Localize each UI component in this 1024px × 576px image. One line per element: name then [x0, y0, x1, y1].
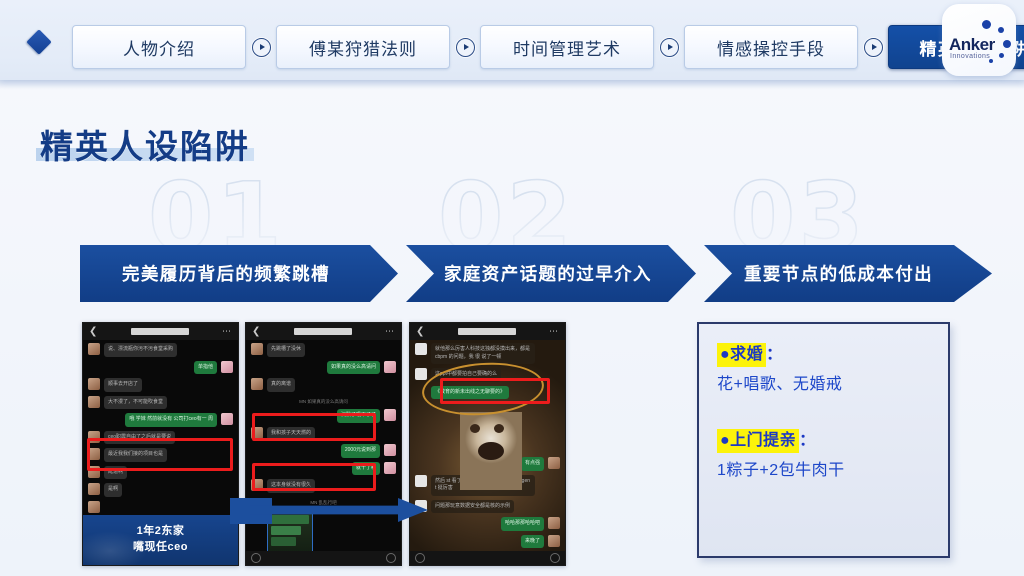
- message-row: 大不漫了，不可能吹食堂: [88, 396, 233, 410]
- message-list: 就他那么厉害人科技这独都没摸出来，都是 cbpm 的问题，我 很 说了一顿 这p…: [410, 340, 565, 551]
- circle-play-icon: [660, 38, 679, 57]
- circle-play-icon: [456, 38, 475, 57]
- avatar: [251, 427, 263, 439]
- message-row: 问题那玩意数据安全都是核的示例: [415, 500, 560, 514]
- phone-footer: [246, 551, 401, 565]
- step-label: 重要节点的低成本付出: [744, 261, 933, 286]
- logo-dot-icon: [982, 20, 991, 29]
- avatar: [384, 361, 396, 373]
- logo-dot-icon: [1003, 40, 1011, 48]
- chat-screenshot-3[interactable]: ❮ ⋯ 就他那么厉害人科技这独都没摸出来，都是 cbpm 的问题，我 很 说了一…: [409, 322, 566, 566]
- step-label: 家庭资产话题的过早介入: [444, 261, 652, 286]
- footer-icon[interactable]: [251, 553, 261, 563]
- phone-footer: [410, 551, 565, 565]
- message-bubble: 如果真的没么高请问: [327, 361, 380, 375]
- chat-title-placeholder: [458, 328, 516, 335]
- avatar: [384, 462, 396, 474]
- message-row: 说、漂流瓶你污不污食堂采购: [88, 343, 233, 357]
- avatar: [415, 475, 427, 487]
- nav-tab-list: 人物介绍 傅某狩猎法则 时间管理艺术 情感操控手段 精英人设陷阱: [72, 26, 1024, 68]
- message-bubble: 问题那玩意数据安全都是核的示例: [431, 500, 514, 514]
- logo-dot-icon: [999, 53, 1004, 58]
- note-colon: ：: [766, 346, 782, 363]
- note-group-1: ●求婚： 花+唱歌、无婚戒: [717, 340, 930, 396]
- nav-separator-0: [246, 26, 276, 68]
- nav-tab-0[interactable]: 人物介绍: [72, 25, 246, 69]
- footer-icon[interactable]: [415, 553, 425, 563]
- message-row: 先跳槽了没休: [251, 343, 396, 357]
- message-bubble: 我和孩子天天燃的: [267, 427, 315, 441]
- nav-separator-3: [858, 26, 888, 68]
- ellipsis-icon[interactable]: ⋯: [385, 326, 395, 337]
- anker-logo: Anker Innovations: [942, 4, 1016, 76]
- message-bubble: 先跳槽了没休: [267, 343, 305, 357]
- message-bubble: 真的离谱: [267, 378, 295, 392]
- message-bubble: 大不漫了，不可能吹食堂: [104, 396, 167, 410]
- chat-title-placeholder: [294, 328, 352, 335]
- step-segment-3[interactable]: 重要节点的低成本付出: [704, 245, 992, 302]
- nav-tab-2[interactable]: 时间管理艺术: [480, 25, 654, 69]
- note-group-2: ●上门提亲： 1粽子+2包牛肉干: [717, 426, 930, 482]
- message-bubble: 乱造啊: [104, 466, 127, 480]
- avatar: [415, 343, 427, 355]
- message-bubble: 沉默了哦下了了: [337, 409, 380, 423]
- avatar: [251, 343, 263, 355]
- nav-tab-1[interactable]: 傅某狩猎法则: [276, 25, 450, 69]
- message-bubble: 是啊: [104, 483, 122, 497]
- chevron-left-icon[interactable]: ❮: [89, 327, 97, 337]
- avatar: [221, 361, 233, 373]
- message-row-highlighted: ceo职震自由了之后就是要说: [88, 431, 233, 445]
- nav-tab-label: 时间管理艺术: [513, 35, 621, 60]
- message-row: 乱造啊: [88, 466, 233, 480]
- chat-title-placeholder: [131, 328, 189, 335]
- message-bubble: 来晚了: [521, 535, 544, 549]
- message-bubble: 单指他: [194, 361, 217, 375]
- avatar: [88, 501, 100, 513]
- message-bubble: ceo职震自由了之后就是要说: [104, 431, 175, 445]
- phone-header: ❮ ⋯: [83, 323, 238, 340]
- message-bubble: 最近我我们接的项目也是: [104, 448, 167, 462]
- message-row: 真的离谱: [251, 378, 396, 392]
- logo-dot-icon: [998, 27, 1004, 33]
- message-bubble: 说、漂流瓶你污不污食堂采购: [104, 343, 177, 357]
- note-heading-highlighted: ●求婚: [717, 343, 766, 367]
- note-body: 1粽子+2包牛肉干: [717, 460, 930, 482]
- message-bubble: 哈哈那那哈哈吧: [501, 517, 544, 531]
- message-bubble: 哦 学妹 然前就没有 公司打ceo有一 周: [125, 413, 217, 427]
- footer-icon[interactable]: [386, 553, 396, 563]
- message-row: [88, 501, 233, 513]
- message-row: 哈哈那那哈哈吧: [415, 517, 560, 531]
- message-row: 顺事去开店了: [88, 378, 233, 392]
- caption-line-1: 1年2东家: [137, 524, 185, 540]
- avatar: [88, 431, 100, 443]
- nav-tab-label: 傅某狩猎法则: [309, 35, 417, 60]
- note-colon: ：: [799, 432, 815, 449]
- message-bubble: 就他那么厉害人科技这独都没摸出来，都是 cbpm 的问题，我 很 说了一顿: [431, 343, 535, 364]
- avatar: [88, 378, 100, 390]
- message-bubble: 就干了啊: [352, 462, 380, 476]
- avatar: [88, 396, 100, 408]
- footer-icon[interactable]: [550, 553, 560, 563]
- step-arrow-banner: 完美履历背后的频繁跳槽 家庭资产话题的过早介入 重要节点的低成本付出: [80, 245, 992, 302]
- image-message-photo[interactable]: [460, 412, 522, 490]
- message-bubble: 《教育的新未出线之无聊要的》: [431, 386, 509, 400]
- message-row: 如果真的没么高请问: [251, 361, 396, 375]
- step-label: 完美履历背后的频繁跳槽: [122, 261, 330, 286]
- avatar: [415, 368, 427, 380]
- diamond-icon: [26, 29, 51, 54]
- panel-caption: 1年2东家 嘴现任ceo: [83, 515, 238, 565]
- nav-tab-label: 人物介绍: [123, 35, 195, 60]
- avatar: [221, 413, 233, 425]
- circle-play-icon: [864, 38, 883, 57]
- avatar: [88, 343, 100, 355]
- avatar: [548, 517, 560, 529]
- step-segment-2[interactable]: 家庭资产话题的过早介入: [406, 245, 696, 302]
- message-row: 就他那么厉害人科技这独都没摸出来，都是 cbpm 的问题，我 很 说了一顿: [415, 343, 560, 364]
- logo-wordmark: Anker: [949, 35, 995, 55]
- message-row-highlighted: 这本身就没有很久: [251, 479, 396, 493]
- chevron-left-icon[interactable]: ❮: [416, 327, 424, 337]
- logo-tagline: Innovations: [950, 53, 990, 60]
- message-row: 是啊: [88, 483, 233, 497]
- avatar: [251, 479, 263, 491]
- message-row: 就干了啊: [251, 462, 396, 476]
- message-row: 这ppt中都要拍自己要确的么: [415, 368, 560, 382]
- message-bubble: 2000元说到那: [341, 444, 380, 458]
- message-bubble: 有点强: [521, 457, 544, 471]
- message-row: 哦 学妹 然前就没有 公司打ceo有一 周: [88, 413, 233, 427]
- nav-tab-3[interactable]: 情感操控手段: [684, 25, 858, 69]
- note-spacer: [717, 396, 930, 426]
- avatar: [251, 378, 263, 390]
- message-row: 沉默了哦下了了: [251, 409, 396, 423]
- nav-separator-2: [654, 26, 684, 68]
- avatar: [548, 535, 560, 547]
- message-bubble: 顺事去开店了: [104, 378, 142, 392]
- slide-canvas: 人物介绍 傅某狩猎法则 时间管理艺术 情感操控手段 精英人设陷阱 Anker I…: [0, 0, 1024, 576]
- message-bubble: 这ppt中都要拍自己要确的么: [431, 368, 501, 382]
- message-row-highlighted: 我和孩子天天燃的: [251, 427, 396, 441]
- note-body: 花+唱歌、无婚戒: [717, 374, 930, 396]
- top-navigation-bar: 人物介绍 傅某狩猎法则 时间管理艺术 情感操控手段 精英人设陷阱 Anker I…: [0, 0, 1024, 80]
- ellipsis-icon[interactable]: ⋯: [222, 326, 232, 337]
- message-row-highlighted: 《教育的新未出线之无聊要的》: [415, 386, 560, 400]
- circle-play-icon: [252, 38, 271, 57]
- message-row: 最近我我们接的项目也是: [88, 448, 233, 462]
- chevron-left-icon[interactable]: ❮: [252, 327, 260, 337]
- avatar: [548, 457, 560, 469]
- avatar: [384, 409, 396, 421]
- avatar: [88, 448, 100, 460]
- message-row: 2000元说到那: [251, 444, 396, 458]
- message-row: 来晚了: [415, 535, 560, 549]
- caption-line-2: 嘴现任ceo: [133, 540, 188, 556]
- chat-screenshot-2[interactable]: ❮ ⋯ 先跳槽了没休 如果真的没么高请问 真的离谱 MN 如果真的没么高请问 沉…: [245, 322, 402, 566]
- avatar: [88, 483, 100, 495]
- avatar: [88, 466, 100, 478]
- ellipsis-icon[interactable]: ⋯: [549, 326, 559, 337]
- summary-note-box: ●求婚： 花+唱歌、无婚戒 ●上门提亲： 1粽子+2包牛肉干: [697, 322, 950, 558]
- chat-screenshot-1[interactable]: ❮ ⋯ 说、漂流瓶你污不污食堂采购 单指他 顺事去开店了 大不漫了，不可能吹食堂…: [82, 322, 239, 566]
- note-heading-highlighted: ●上门提亲: [717, 429, 799, 453]
- phone-header: ❮ ⋯: [410, 323, 565, 340]
- message-row: 单指他: [88, 361, 233, 375]
- nav-separator-1: [450, 26, 480, 68]
- nav-tab-label: 情感操控手段: [717, 35, 825, 60]
- message-bubble: 这本身就没有很久: [267, 479, 315, 493]
- system-message: MN 如果真的没么高请问: [251, 396, 396, 409]
- phone-header: ❮ ⋯: [246, 323, 401, 340]
- avatar: [384, 444, 396, 456]
- step-segment-1[interactable]: 完美履历背后的频繁跳槽: [80, 245, 398, 302]
